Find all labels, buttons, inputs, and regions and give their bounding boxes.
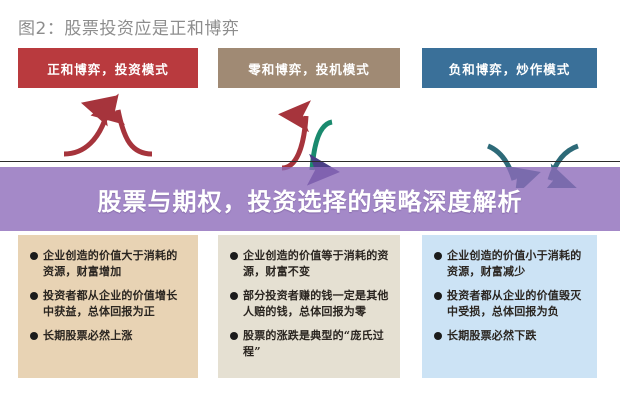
bullet-dot-icon (230, 252, 238, 260)
header-box-positive-sum: 正和博弈，投资模式 (18, 48, 198, 88)
bullet-dot-icon (434, 292, 442, 300)
list-item: 投资者都从企业的价值毁灭中受损，总体回报为负 (434, 288, 587, 319)
header-box-zero-sum: 零和博弈，投机模式 (218, 48, 400, 88)
list-item: 股票的涨跌是典型的“庞氏过程” (230, 328, 390, 359)
list-item: 部分投资者赚的钱一定是其他人赔的钱，总体回报为零 (230, 288, 390, 319)
list-item: 企业创造的价值大于消耗的资源，财富增加 (30, 248, 188, 279)
bullet-text: 长期股票必然上涨 (43, 328, 188, 344)
header-box-row: 正和博弈，投资模式 零和博弈，投机模式 负和博弈，炒作模式 (0, 48, 620, 88)
bullet-dot-icon (230, 292, 238, 300)
list-item: 投资者都从企业的价值增长中获益，总体回报为正 (30, 288, 188, 319)
bullet-text: 企业创造的价值小于消耗的资源，财富减少 (447, 248, 587, 279)
bullet-text: 企业创造的价值等于消耗的资源，财富不变 (243, 248, 390, 279)
header-box-negative-sum: 负和博弈，炒作模式 (422, 48, 597, 88)
detail-panel-row: 企业创造的价值大于消耗的资源，财富增加 投资者都从企业的价值增长中获益，总体回报… (0, 235, 620, 378)
bullet-dot-icon (30, 292, 38, 300)
bullet-text: 企业创造的价值大于消耗的资源，财富增加 (43, 248, 188, 279)
bullet-text: 投资者都从企业的价值毁灭中受损，总体回报为负 (447, 288, 587, 319)
list-item: 企业创造的价值等于消耗的资源，财富不变 (230, 248, 390, 279)
bullet-text: 长期股票必然下跌 (447, 328, 587, 344)
two-up-arrows-icon (64, 110, 152, 154)
list-item: 长期股票必然下跌 (434, 328, 587, 344)
detail-panel-negative-sum: 企业创造的价值小于消耗的资源，财富减少 投资者都从企业的价值毁灭中受损，总体回报… (422, 235, 597, 378)
infographic-root: 图2：股票投资应是正和博弈 正和博弈，投资模式 零和博弈，投机模式 负和博弈，炒… (0, 0, 620, 400)
bullet-dot-icon (230, 332, 238, 340)
figure-caption: 图2：股票投资应是正和博弈 (18, 14, 239, 39)
list-item: 长期股票必然上涨 (30, 328, 188, 344)
horizontal-divider (0, 161, 620, 162)
header-label-negative-sum: 负和博弈，炒作模式 (449, 59, 571, 78)
bullet-text: 部分投资者赚的钱一定是其他人赔的钱，总体回报为零 (243, 288, 390, 319)
header-label-positive-sum: 正和博弈，投资模式 (47, 59, 169, 78)
bullet-dot-icon (434, 332, 442, 340)
bullet-dot-icon (434, 252, 442, 260)
title-banner: 股票与期权，投资选择的策略深度解析 (0, 167, 620, 231)
bullet-dot-icon (30, 332, 38, 340)
bullet-dot-icon (30, 252, 38, 260)
detail-panel-zero-sum: 企业创造的价值等于消耗的资源，财富不变 部分投资者赚的钱一定是其他人赔的钱，总体… (218, 235, 400, 378)
bullet-text: 股票的涨跌是典型的“庞氏过程” (243, 328, 390, 359)
bullet-text: 投资者都从企业的价值增长中获益，总体回报为正 (43, 288, 188, 319)
header-label-zero-sum: 零和博弈，投机模式 (248, 59, 370, 78)
list-item: 企业创造的价值小于消耗的资源，财富减少 (434, 248, 587, 279)
detail-panel-positive-sum: 企业创造的价值大于消耗的资源，财富增加 投资者都从企业的价值增长中获益，总体回报… (18, 235, 198, 378)
banner-title-text: 股票与期权，投资选择的策略深度解析 (98, 182, 523, 217)
